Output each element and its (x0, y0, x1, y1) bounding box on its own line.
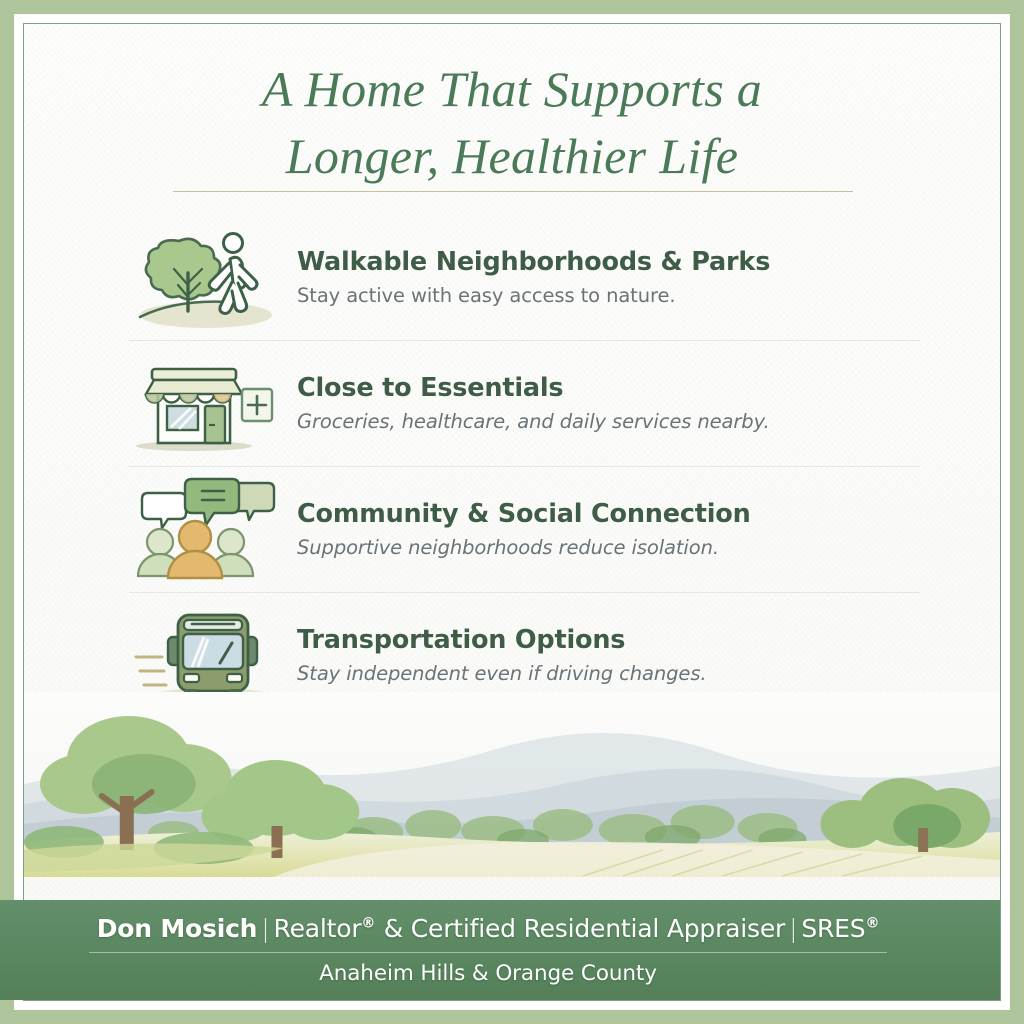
footer-divider (89, 952, 887, 953)
feature-row-essentials: Close to Essentials Groceries, healthcar… (24, 340, 1001, 466)
footer-region: Anaheim Hills & Orange County (0, 961, 1000, 986)
feature-title: Close to Essentials (297, 373, 770, 403)
footer-separator-2: | (785, 914, 801, 943)
feature-subtitle: Stay independent even if driving changes… (297, 662, 706, 685)
designation-mark-icon: ® (865, 916, 879, 932)
inner-frame: A Home That Supports a Longer, Healthier… (23, 23, 1001, 1001)
walking-person-tree-icon (129, 221, 289, 333)
page-title: A Home That Supports a Longer, Healthier… (24, 56, 1000, 190)
agent-role-tail: & Certified Residential Appraiser (384, 914, 785, 943)
registered-mark-icon: ® (361, 916, 375, 932)
agent-role: Realtor (274, 914, 362, 943)
feature-row-walkable: Walkable Neighborhoods & Parks Stay acti… (24, 214, 1001, 340)
feature-title: Walkable Neighborhoods & Parks (297, 247, 770, 277)
feature-subtitle: Supportive neighborhoods reduce isolatio… (297, 536, 751, 559)
title-line-1: A Home That Supports a (24, 56, 1000, 123)
agent-name: Don Mosich (97, 914, 258, 943)
feature-title: Transportation Options (297, 625, 706, 655)
feature-title: Community & Social Connection (297, 499, 751, 529)
poster-root: A Home That Supports a Longer, Healthier… (0, 0, 1024, 1024)
feature-list: Walkable Neighborhoods & Parks Stay acti… (24, 214, 1001, 718)
footer-credentials: Don Mosich|Realtor® & Certified Resident… (0, 914, 1000, 943)
feature-subtitle: Stay active with easy access to nature. (297, 284, 770, 307)
feature-text: Transportation Options Stay independent … (289, 625, 706, 685)
feature-row-community: Community & Social Connection Supportive… (24, 466, 1001, 592)
feature-text: Close to Essentials Groceries, healthcar… (289, 373, 770, 433)
feature-text: Walkable Neighborhoods & Parks Stay acti… (289, 247, 770, 307)
storefront-pharmacy-icon (129, 347, 289, 459)
title-divider (173, 191, 853, 192)
title-line-2: Longer, Healthier Life (24, 123, 1000, 190)
footer-separator-1: | (257, 914, 273, 943)
footer-banner: Don Mosich|Realtor® & Certified Resident… (0, 900, 1000, 1000)
rolling-hills-landscape (24, 692, 1000, 877)
people-speech-bubbles-icon (129, 473, 289, 585)
agent-designation: SRES (801, 914, 865, 943)
feature-text: Community & Social Connection Supportive… (289, 499, 751, 559)
feature-subtitle: Groceries, healthcare, and daily service… (297, 410, 770, 433)
